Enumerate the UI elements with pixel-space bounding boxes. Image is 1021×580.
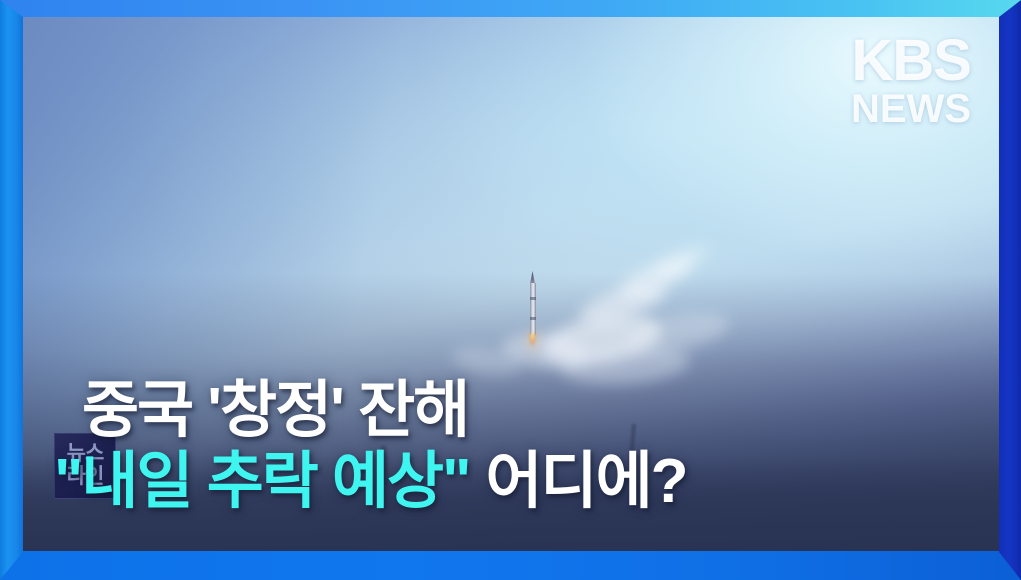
rocket	[526, 271, 539, 351]
rocket-flame	[529, 333, 536, 359]
video-content-area: KBS NEWS 뉴스 라인 중국 '창정' 잔해 "내일 추락 예상" 어디에…	[22, 16, 999, 551]
ground-haze	[22, 455, 999, 551]
frame-border-bottom	[0, 551, 1021, 580]
frame-border-right	[999, 0, 1021, 580]
program-badge: 뉴스 라인	[54, 433, 116, 499]
rocket-band	[530, 317, 536, 320]
rocket-band	[530, 297, 536, 300]
frame-border-left	[0, 0, 23, 580]
broadcast-frame: KBS NEWS 뉴스 라인 중국 '창정' 잔해 "내일 추락 예상" 어디에…	[0, 0, 1021, 580]
frame-border-top	[0, 0, 1021, 17]
rocket-body	[530, 283, 536, 335]
program-badge-line1: 뉴스	[67, 443, 104, 466]
program-badge-line2: 라인	[67, 466, 104, 489]
